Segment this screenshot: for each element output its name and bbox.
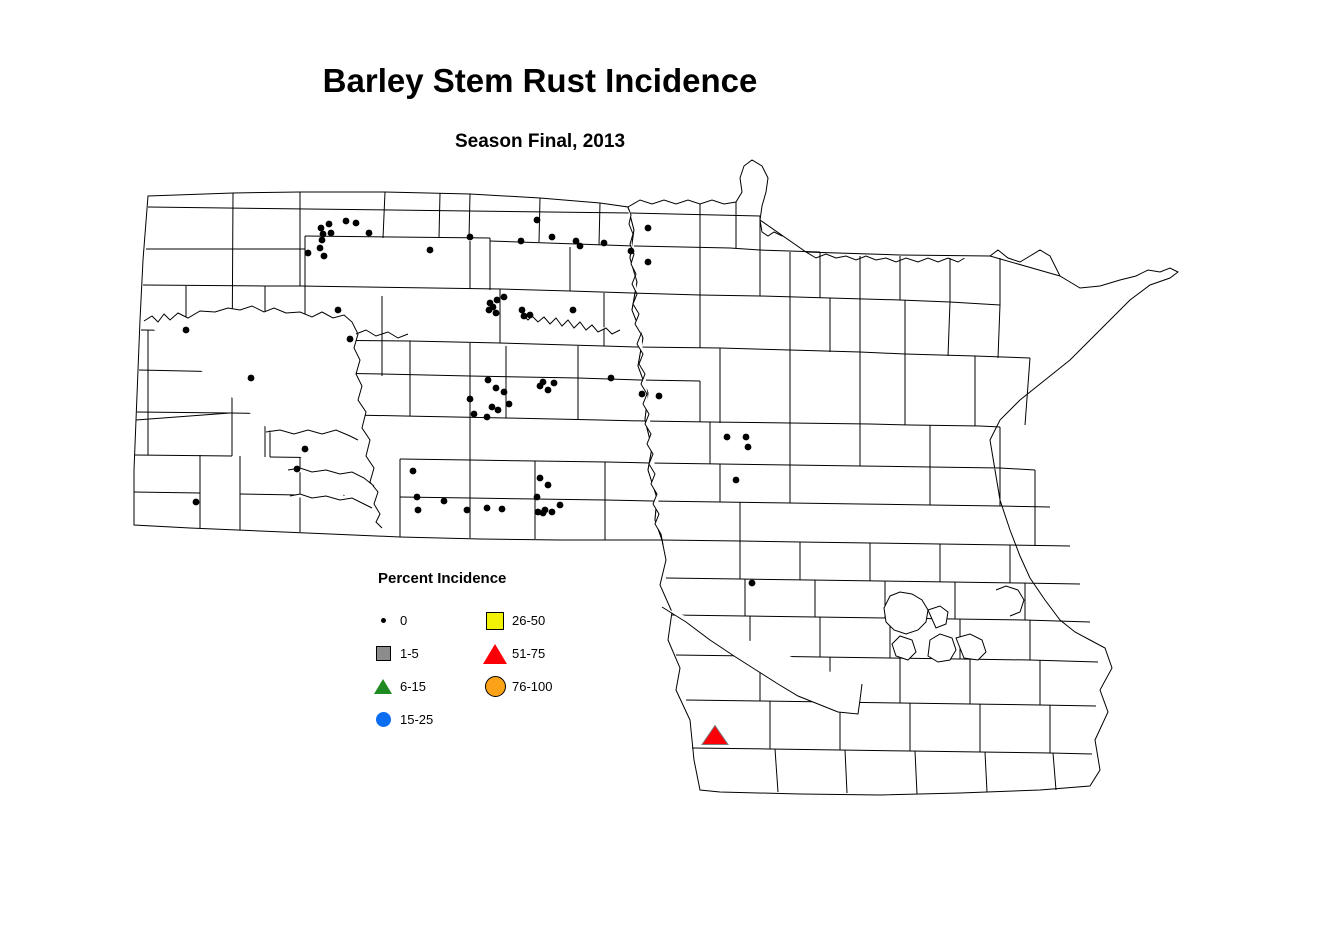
legend-label: 26-50 bbox=[512, 613, 545, 628]
legend-label: 76-100 bbox=[512, 679, 552, 694]
legend-item-0[interactable]: 0 bbox=[370, 604, 433, 637]
map-point-zero bbox=[540, 379, 547, 386]
map-point-zero bbox=[534, 217, 541, 224]
map-point-zero bbox=[193, 499, 200, 506]
map-point-zero bbox=[471, 411, 478, 418]
legend-label: 0 bbox=[400, 613, 407, 628]
map-point-zero bbox=[519, 307, 526, 314]
map-point-zero bbox=[645, 225, 652, 232]
map-point-zero bbox=[326, 221, 333, 228]
map-point-zero bbox=[537, 475, 544, 482]
legend-item-15-25[interactable]: 15-25 bbox=[370, 703, 433, 736]
blue-circle-icon bbox=[370, 707, 396, 733]
map-point-zero bbox=[521, 313, 528, 320]
map-point-zero bbox=[745, 444, 752, 451]
map-point-zero bbox=[414, 494, 421, 501]
map-point-zero bbox=[499, 506, 506, 513]
legend-item-1-5[interactable]: 1-5 bbox=[370, 637, 433, 670]
legend-item-51-75[interactable]: 51-75 bbox=[482, 637, 552, 670]
green-triangle-icon bbox=[370, 674, 396, 700]
map-point-zero bbox=[506, 401, 513, 408]
map-point-zero bbox=[366, 230, 373, 237]
map-point-zero bbox=[656, 393, 663, 400]
map-point-zero bbox=[490, 304, 497, 311]
map-point-zero bbox=[628, 248, 635, 255]
map-point-zero bbox=[608, 375, 615, 382]
map-point-zero bbox=[749, 580, 756, 587]
map-point-zero bbox=[302, 446, 309, 453]
map-point-zero bbox=[305, 250, 312, 257]
map-point-zero bbox=[464, 507, 471, 514]
map-page: Barley Stem Rust Incidence Season Final,… bbox=[0, 0, 1341, 926]
legend-label: 51-75 bbox=[512, 646, 545, 661]
map-point-zero bbox=[183, 327, 190, 334]
map-point-zero bbox=[467, 396, 474, 403]
map-point-zero bbox=[534, 494, 541, 501]
map-point-zero bbox=[441, 498, 448, 505]
map-point-zero bbox=[484, 414, 491, 421]
map-point-zero bbox=[545, 387, 552, 394]
legend-label: 6-15 bbox=[400, 679, 426, 694]
map-point-zero bbox=[294, 466, 301, 473]
legend-title: Percent Incidence bbox=[378, 570, 506, 587]
map-point-zero bbox=[549, 509, 556, 516]
map-point-zero bbox=[318, 225, 325, 232]
map-point-zero bbox=[724, 434, 731, 441]
map-point-zero bbox=[743, 434, 750, 441]
map-point-zero bbox=[335, 307, 342, 314]
map-point-zero bbox=[484, 505, 491, 512]
map-canvas bbox=[0, 0, 1341, 926]
map-point-zero bbox=[343, 218, 350, 225]
map-point-zero bbox=[733, 477, 740, 484]
minnesota-counties bbox=[628, 160, 1178, 795]
map-point-zero bbox=[493, 385, 500, 392]
legend-column-right: 26-50 51-75 76-100 bbox=[482, 604, 552, 703]
orange-circle-icon bbox=[482, 674, 508, 700]
map-point-zero bbox=[321, 253, 328, 260]
legend-item-26-50[interactable]: 26-50 bbox=[482, 604, 552, 637]
gray-square-icon bbox=[370, 641, 396, 667]
map-point-zero bbox=[518, 238, 525, 245]
map-point-zero bbox=[601, 240, 608, 247]
map-point-zero bbox=[320, 231, 327, 238]
map-point-zero bbox=[645, 259, 652, 266]
legend-label: 1-5 bbox=[400, 646, 419, 661]
legend-column-left: 0 1-5 6-15 15-25 bbox=[370, 604, 433, 736]
map-point-zero bbox=[317, 245, 324, 252]
map-point-zero bbox=[557, 502, 564, 509]
map-point-zero bbox=[570, 307, 577, 314]
yellow-square-icon bbox=[482, 608, 508, 634]
red-triangle-icon bbox=[482, 641, 508, 667]
map-point-zero bbox=[353, 220, 360, 227]
map-point-zero bbox=[577, 243, 584, 250]
map-point-zero bbox=[485, 377, 492, 384]
map-point-zero bbox=[494, 297, 501, 304]
map-point-zero bbox=[427, 247, 434, 254]
legend: Percent Incidence 0 1-5 6-15 15-25 bbox=[370, 570, 600, 720]
map-point-zero bbox=[501, 389, 508, 396]
map-point-zero bbox=[347, 336, 354, 343]
map-point-zero bbox=[248, 375, 255, 382]
map-point-zero bbox=[545, 482, 552, 489]
map-point-zero bbox=[489, 404, 496, 411]
map-point-zero bbox=[493, 310, 500, 317]
map-point-zero bbox=[549, 234, 556, 241]
legend-item-76-100[interactable]: 76-100 bbox=[482, 670, 552, 703]
map-point-zero bbox=[319, 237, 326, 244]
map-point-zero bbox=[639, 391, 646, 398]
map-point-zero bbox=[527, 312, 534, 319]
map-point-zero bbox=[410, 468, 417, 475]
map-point-zero bbox=[495, 407, 502, 414]
legend-item-6-15[interactable]: 6-15 bbox=[370, 670, 433, 703]
map-point-zero bbox=[328, 230, 335, 237]
legend-label: 15-25 bbox=[400, 712, 433, 727]
map-point-zero bbox=[501, 294, 508, 301]
map-point-zero bbox=[467, 234, 474, 241]
map-point-zero bbox=[540, 510, 547, 517]
dot-icon bbox=[370, 608, 396, 634]
map-point-zero bbox=[415, 507, 422, 514]
map-point-zero bbox=[551, 380, 558, 387]
